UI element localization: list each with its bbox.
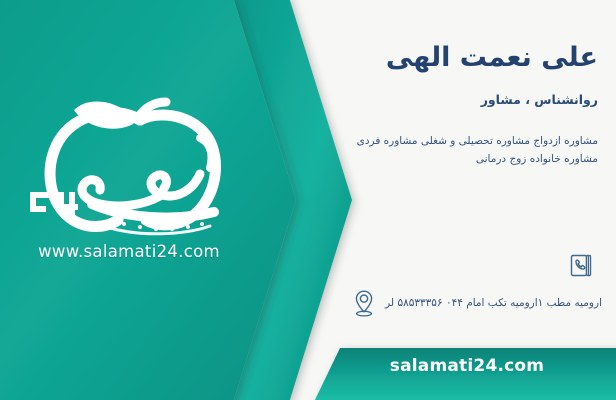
- business-card: www.salamati24.com علی نعمت الهی روانشنا…: [0, 0, 616, 400]
- brand-logo: www.salamati24.com: [14, 96, 244, 266]
- services-list: مشاوره ازدواج مشاوره تحصیلی و شغلی مشاور…: [336, 132, 598, 168]
- address-row[interactable]: ارومیه مطب ۱ارومیه تکب امام ۰۴۴ ۵۸۵۳۳۳۵۶…: [351, 288, 602, 318]
- phone-book-icon[interactable]: [568, 252, 594, 282]
- location-pin-icon[interactable]: [351, 288, 377, 318]
- service-line-2: مشاوره خانواده زوج درمانی: [336, 150, 598, 168]
- footer-website-label[interactable]: salamati24.com: [318, 348, 616, 384]
- logo-website-url[interactable]: www.salamati24.com: [14, 242, 244, 261]
- address-value: ارومیه مطب ۱ارومیه تکب امام ۰۴۴ ۵۸۵۳۳۳۵۶…: [385, 296, 602, 310]
- contact-information-panel: علی نعمت الهی روانشناس ، مشاور مشاوره از…: [318, 0, 616, 400]
- apple-logo-icon: [14, 96, 244, 244]
- service-line-1: مشاوره ازدواج مشاوره تحصیلی و شغلی مشاور…: [336, 132, 598, 150]
- person-name: علی نعمت الهی: [386, 42, 598, 73]
- person-role: روانشناس ، مشاور: [481, 92, 598, 107]
- phone-row[interactable]: [568, 252, 602, 282]
